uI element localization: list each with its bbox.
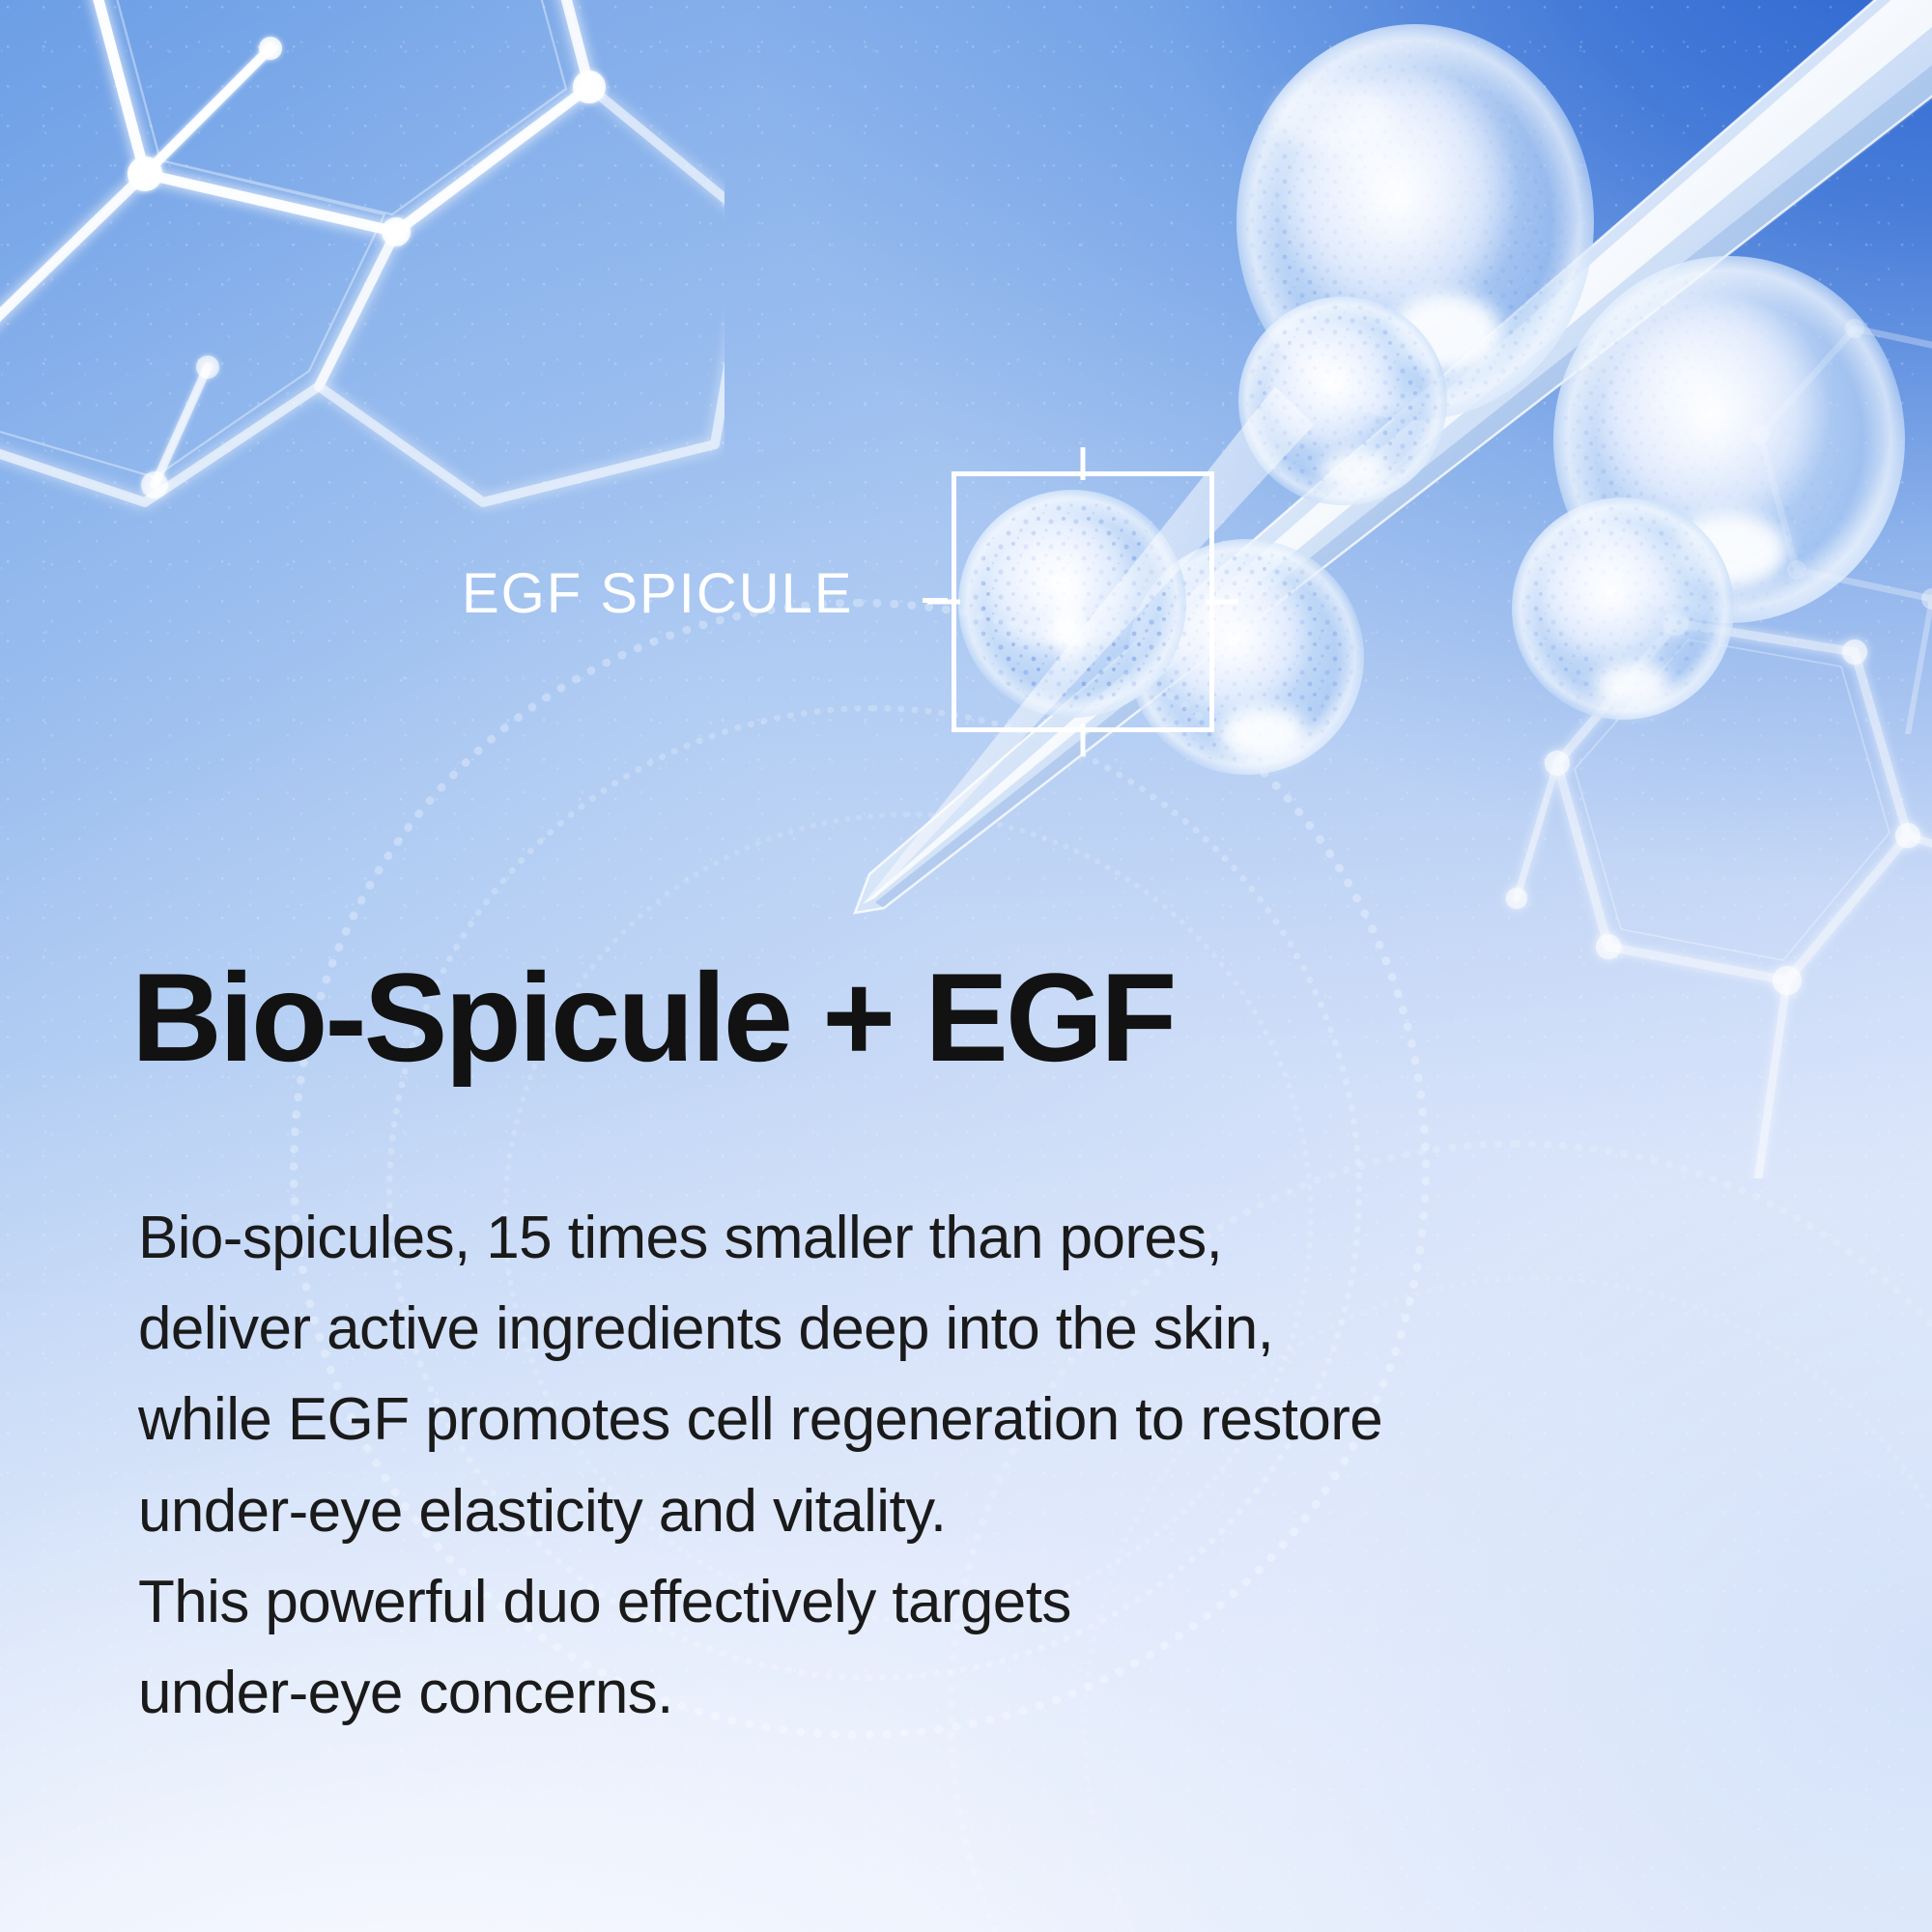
body-line-4: under-eye elasticity and vitality.: [138, 1466, 1838, 1557]
body-line-2: deliver active ingredients deep into the…: [138, 1284, 1838, 1375]
body-line-6: under-eye concerns.: [138, 1648, 1838, 1739]
reticle-tick-top: [1081, 447, 1086, 480]
body-line-1: Bio-spicules, 15 times smaller than pore…: [138, 1193, 1838, 1284]
infographic-canvas: EGF SPICULE Bio-Spicule + EGF Bio-spicul…: [0, 0, 1932, 1932]
focus-reticle: [952, 471, 1214, 732]
body-line-3: while EGF promotes cell regeneration to …: [138, 1375, 1838, 1465]
reticle-tick-bottom: [1081, 724, 1086, 756]
page-title: Bio-Spicule + EGF: [131, 954, 1174, 1080]
body-line-5: This powerful duo effectively targets: [138, 1557, 1838, 1648]
callout-leader-dash: [923, 598, 948, 603]
reticle-tick-right: [1206, 600, 1238, 605]
callout-label-egf-spicule: EGF SPICULE: [462, 566, 854, 622]
body-description: Bio-spicules, 15 times smaller than pore…: [138, 1193, 1838, 1739]
